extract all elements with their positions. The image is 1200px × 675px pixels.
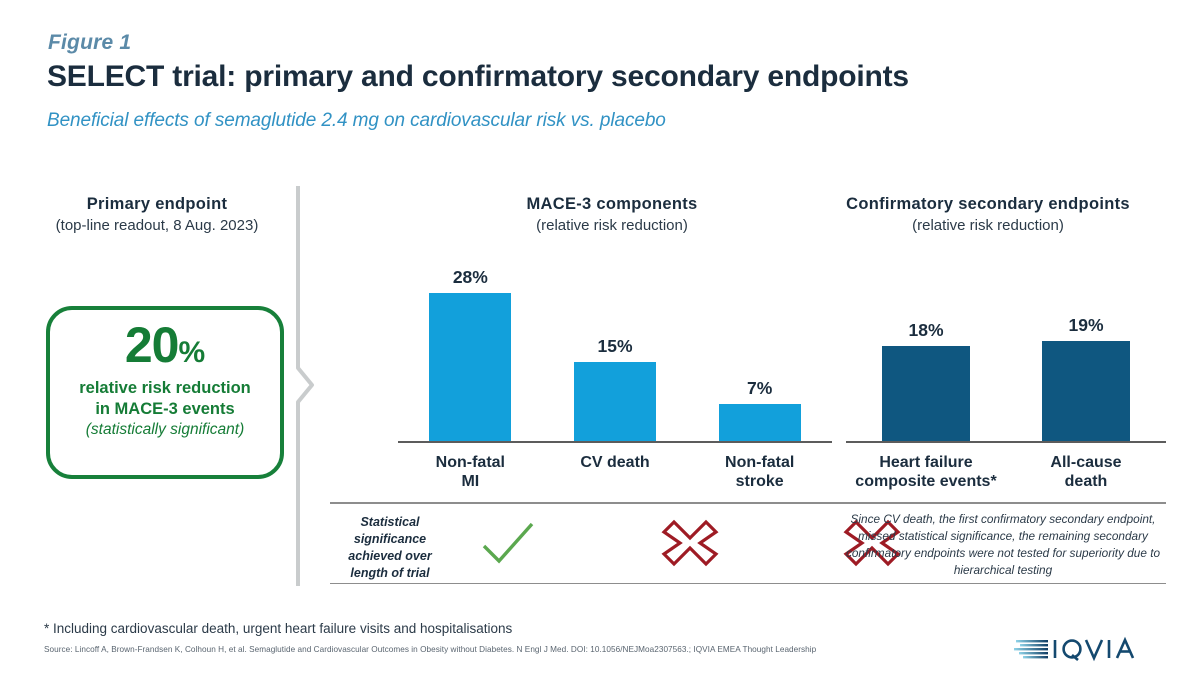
mace-axis-line — [398, 441, 832, 444]
significance-mark-non-fatal-mi — [478, 518, 538, 568]
strip-rule-bottom — [330, 583, 1166, 585]
callout-line-1: relative risk reduction — [79, 378, 251, 399]
mace-bars: 28% 15% 7% — [398, 258, 832, 441]
significance-mark-cv-death — [660, 518, 720, 568]
secondary-endpoints-subtitle: (relative risk reduction) — [812, 217, 1164, 234]
category-label-all-cause-death: All-cause death — [1006, 453, 1166, 491]
category-label-line: Heart failure — [846, 453, 1006, 472]
primary-endpoint-subtitle: (top-line readout, 8 Aug. 2023) — [18, 217, 296, 234]
iqvia-logo — [1014, 636, 1144, 662]
bar-value-label: 19% — [1068, 315, 1103, 336]
category-label-line: Non-fatal — [398, 453, 543, 472]
strip-rule-top — [330, 502, 1166, 504]
bar-non-fatal-stroke[interactable] — [719, 404, 801, 441]
cross-icon — [660, 518, 720, 568]
panel-divider — [288, 186, 318, 586]
page-title: SELECT trial: primary and confirmatory s… — [47, 60, 909, 94]
mace-plot-area: 28% 15% 7% — [398, 258, 832, 443]
category-label-heart-failure: Heart failure composite events* — [846, 453, 1006, 491]
secondary-endpoints-title: Confirmatory secondary endpoints — [812, 195, 1164, 214]
mace-components-subtitle: (relative risk reduction) — [392, 217, 832, 234]
bar-group-non-fatal-stroke[interactable]: 7% — [687, 258, 832, 441]
category-label-line: All-cause — [1006, 453, 1166, 472]
category-label-line: composite events* — [846, 472, 1006, 491]
hierarchical-testing-note: Since CV death, the first confirmatory s… — [838, 511, 1168, 579]
primary-endpoint-callout: 20% relative risk reduction in MACE-3 ev… — [46, 306, 284, 479]
category-label-line: death — [1006, 472, 1166, 491]
callout-value-number: 20 — [125, 317, 179, 373]
bar-group-all-cause-death[interactable]: 19% — [1006, 258, 1166, 441]
bar-group-heart-failure[interactable]: 18% — [846, 258, 1006, 441]
bar-value-label: 28% — [453, 267, 488, 288]
secondary-axis-line — [846, 441, 1166, 444]
bar-group-cv-death[interactable]: 15% — [543, 258, 688, 441]
significance-label-line: Statistical — [338, 514, 442, 531]
primary-endpoint-title: Primary endpoint — [18, 195, 296, 214]
mace-components-chart: 28% 15% 7% Non-fatal MI CV death — [398, 258, 832, 498]
significance-label-line: length of trial — [338, 565, 442, 582]
bar-heart-failure-composite[interactable] — [882, 346, 970, 441]
statistical-significance-strip: Statistical significance achieved over l… — [330, 502, 1166, 584]
secondary-endpoints-chart: 18% 19% Heart failure composite events* … — [846, 258, 1166, 498]
bar-all-cause-death[interactable] — [1042, 341, 1130, 441]
callout-value: 20% — [125, 320, 205, 370]
secondary-bars: 18% 19% — [846, 258, 1166, 441]
source-citation: Source: Lincoff A, Brown-Frandsen K, Col… — [44, 645, 816, 654]
significance-label-line: achieved over — [338, 548, 442, 565]
category-label-line: MI — [398, 472, 543, 491]
category-label-line: CV death — [543, 453, 688, 472]
page-subtitle: Beneficial effects of semaglutide 2.4 mg… — [47, 110, 666, 132]
primary-endpoint-header: Primary endpoint (top-line readout, 8 Au… — [18, 195, 296, 234]
footnote: * Including cardiovascular death, urgent… — [44, 621, 512, 636]
callout-percent-symbol: % — [178, 336, 205, 369]
mace-components-title: MACE-3 components — [392, 195, 832, 214]
mace-category-labels: Non-fatal MI CV death Non-fatal stroke — [398, 453, 832, 491]
category-label-cv-death: CV death — [543, 453, 688, 491]
chevron-right-icon — [288, 186, 318, 586]
secondary-category-labels: Heart failure composite events* All-caus… — [846, 453, 1166, 491]
figure-label: Figure 1 — [48, 31, 131, 55]
category-label-line: stroke — [687, 472, 832, 491]
mace-components-header: MACE-3 components (relative risk reducti… — [392, 195, 832, 234]
category-label-line: Non-fatal — [687, 453, 832, 472]
figure-canvas: Figure 1 SELECT trial: primary and confi… — [0, 0, 1200, 675]
category-label-non-fatal-stroke: Non-fatal stroke — [687, 453, 832, 491]
significance-row-label: Statistical significance achieved over l… — [338, 514, 442, 582]
bar-group-non-fatal-mi[interactable]: 28% — [398, 258, 543, 441]
iqvia-logo-icon — [1014, 636, 1144, 662]
significance-label-line: significance — [338, 531, 442, 548]
bar-non-fatal-mi[interactable] — [429, 293, 511, 441]
callout-note: (statistically significant) — [86, 421, 245, 439]
bar-cv-death[interactable] — [574, 362, 656, 441]
bar-value-label: 7% — [747, 378, 772, 399]
category-label-non-fatal-mi: Non-fatal MI — [398, 453, 543, 491]
secondary-plot-area: 18% 19% — [846, 258, 1166, 443]
check-icon — [478, 518, 538, 568]
callout-line-2: in MACE-3 events — [95, 399, 234, 420]
bar-value-label: 18% — [908, 320, 943, 341]
bar-value-label: 15% — [597, 336, 632, 357]
secondary-endpoints-header: Confirmatory secondary endpoints (relati… — [812, 195, 1164, 234]
